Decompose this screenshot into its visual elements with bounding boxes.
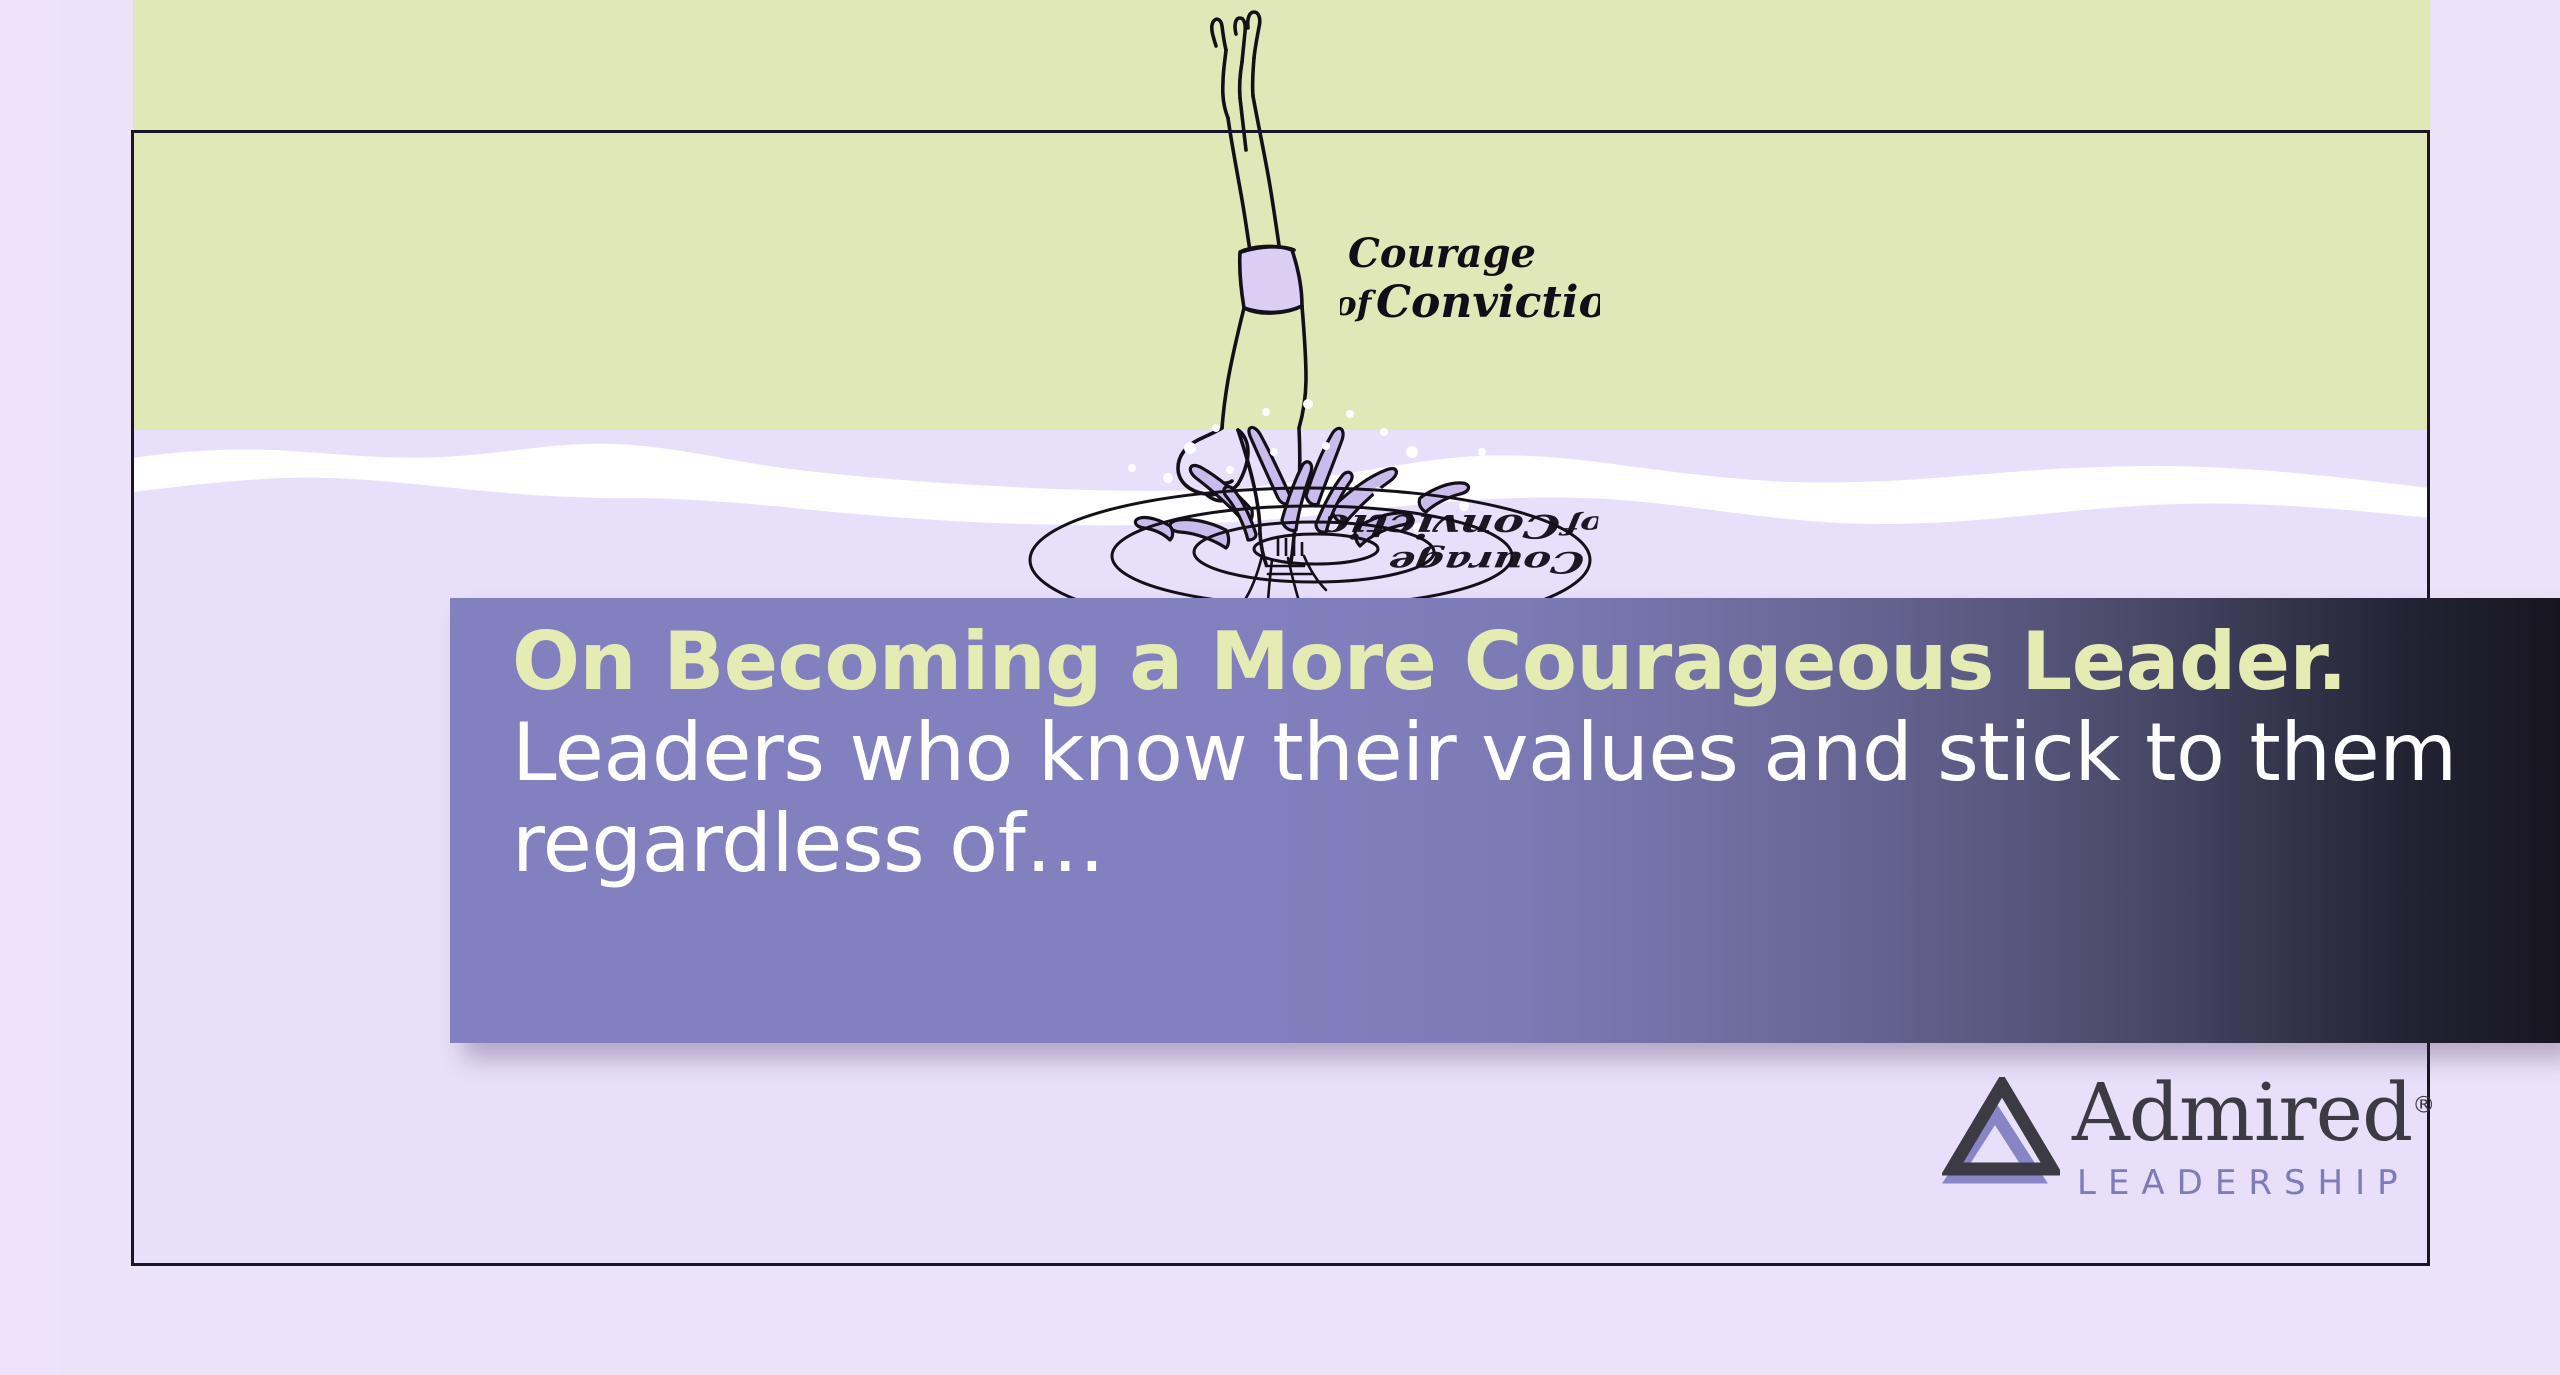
script-logotype-reflection: Courage of Conviction [1277, 487, 1603, 583]
slide-canvas: Courage of Conviction Courage of Convict… [0, 0, 2560, 1375]
page-backdrop-left-band [0, 0, 60, 1375]
script-reflection-line-2: Conviction [1319, 507, 1563, 545]
headline-banner-inner: On Becoming a More Courageous Leader. Le… [512, 616, 2550, 890]
headline-bold-part: On Becoming a More Courageous Leader. [512, 615, 2347, 708]
script-reflection-line-2-prefix: of [1557, 510, 1600, 539]
script-logotype: Courage of Conviction [1340, 225, 1600, 335]
headline-banner[interactable]: On Becoming a More Courageous Leader. Le… [450, 598, 2560, 1043]
script-line-2: Conviction [1376, 277, 1600, 328]
registered-trademark-icon: ® [2412, 1092, 2435, 1118]
headline-rest-part: Leaders who know their values and stick … [512, 706, 2457, 890]
script-reflection-svg: Courage of Conviction [1319, 502, 1601, 583]
diver-trunks [1240, 246, 1302, 313]
logo-wordmark: Admired® [2072, 1075, 2435, 1151]
headline-text: On Becoming a More Courageous Leader. Le… [512, 616, 2550, 890]
script-line-2-prefix: of [1340, 284, 1377, 324]
script-line-1: Courage [1348, 230, 1536, 277]
logo-wordmark-text: Admired [2072, 1066, 2412, 1159]
admired-leadership-logo[interactable]: Admired® LEADERSHIP [1942, 1075, 2442, 1225]
script-reflection-line-1: Courage [1386, 545, 1586, 580]
script-logotype-svg: Courage of Conviction [1340, 225, 1600, 335]
logo-text-column: Admired® LEADERSHIP [2072, 1075, 2435, 1203]
logo-subtitle: LEADERSHIP [2077, 1163, 2410, 1203]
admired-triangle-mark [1942, 1077, 2060, 1185]
